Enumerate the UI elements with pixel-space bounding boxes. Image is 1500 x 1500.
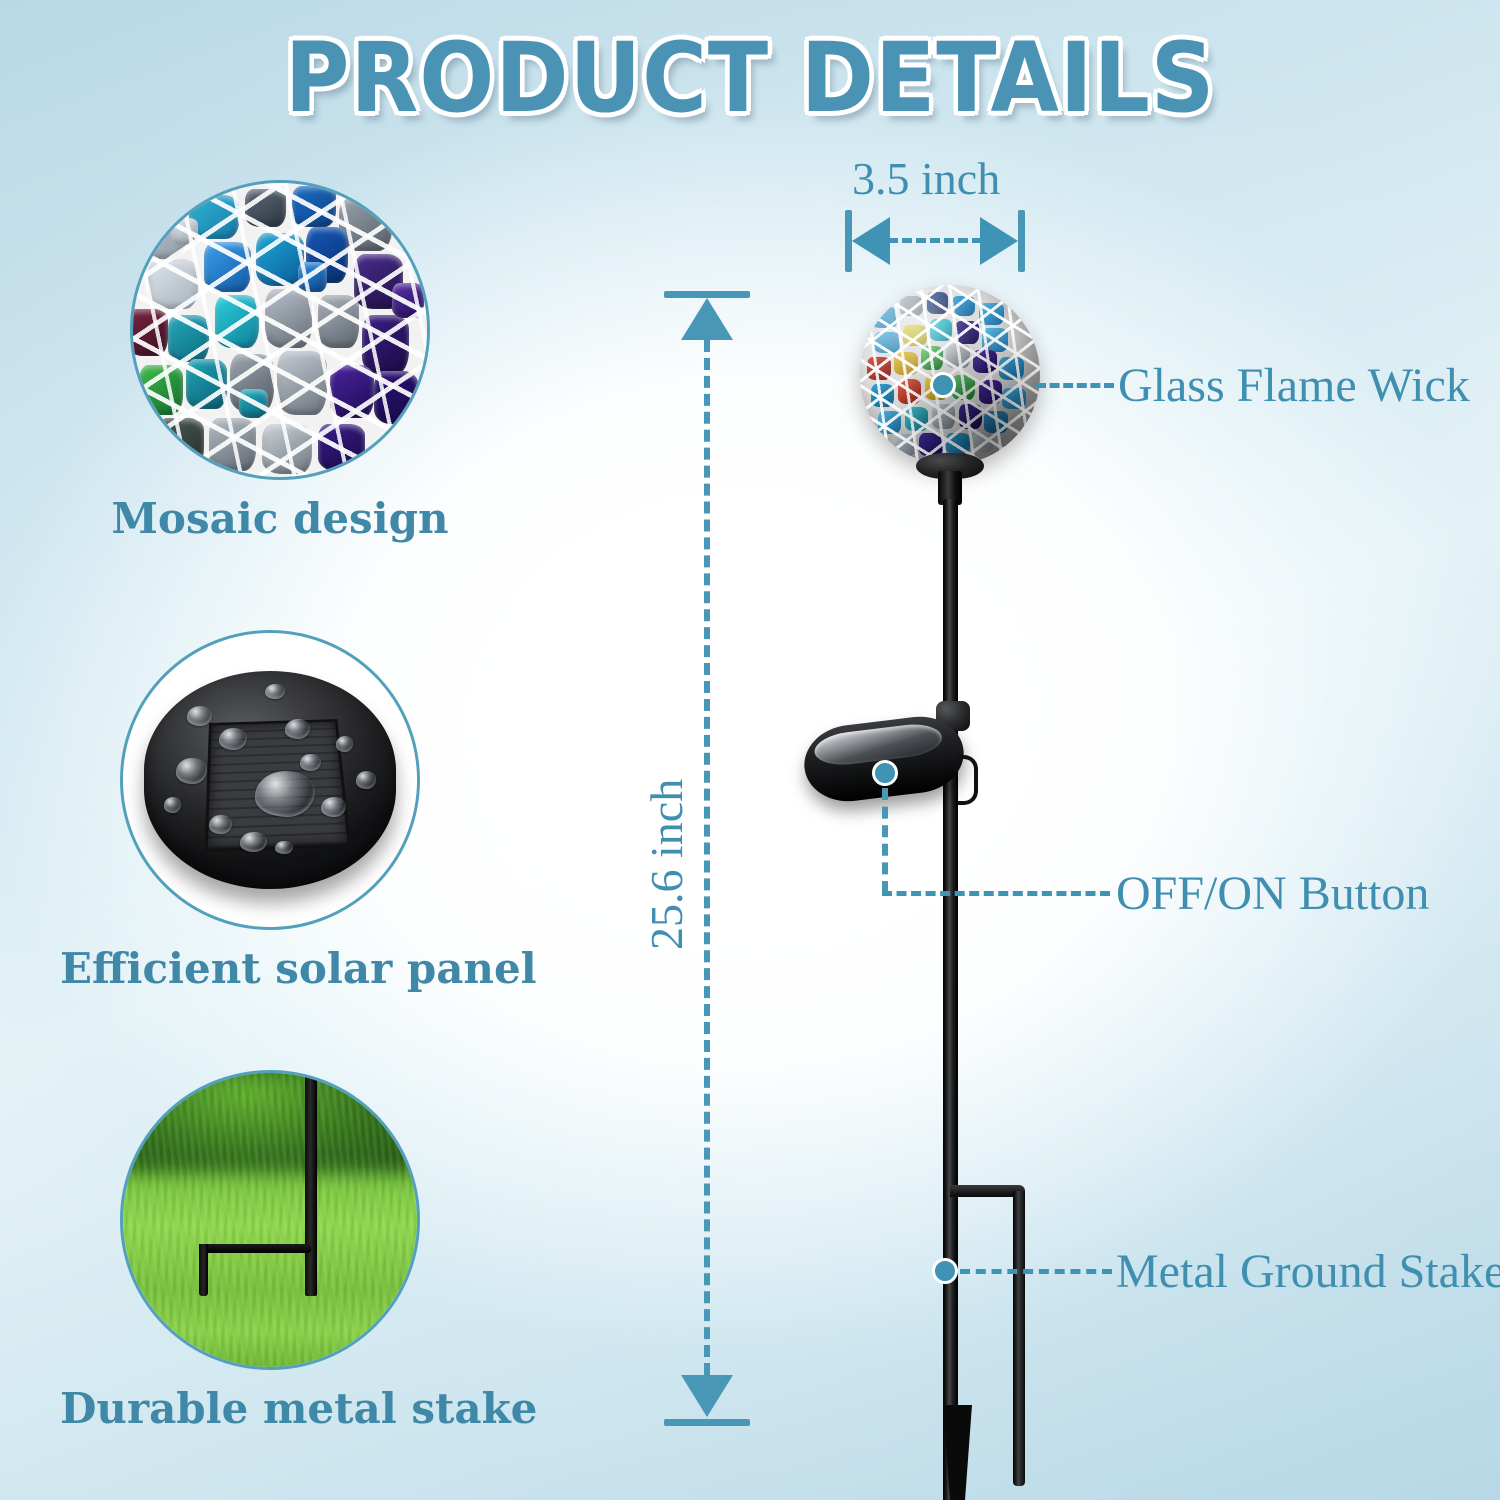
callout-line-off-on-button-horizontal	[882, 891, 1110, 896]
stake-pointed-tip	[943, 1405, 972, 1500]
width-dim-arrowhead-right	[980, 217, 1018, 265]
width-dimension-label: 3.5 inch	[852, 152, 1000, 205]
height-dimension-label: 25.6 inch	[640, 779, 693, 950]
feature-caption-durable-metal-stake: Durable metal stake	[60, 1384, 480, 1433]
mosaic-design-image	[130, 180, 430, 480]
durable-metal-stake-image	[120, 1070, 420, 1370]
width-dim-tick-left	[845, 210, 852, 272]
callout-label-metal-ground-stake: Metal Ground Stake	[1116, 1244, 1500, 1299]
stake-side-prong	[199, 1244, 208, 1297]
efficient-solar-panel-image	[120, 630, 420, 930]
feature-caption-mosaic-design: Mosaic design	[70, 494, 490, 543]
height-dim-tick-top	[664, 291, 750, 298]
grass-texture	[123, 1073, 417, 1367]
height-dim-arrowhead-bottom	[681, 1375, 733, 1417]
callout-line-glass-flame-wick	[1036, 383, 1114, 388]
width-dim-arrowhead-left	[852, 217, 890, 265]
callout-marker-metal-ground-stake[interactable]	[932, 1258, 958, 1284]
callout-line-off-on-button-vertical	[882, 788, 888, 893]
feature-card-mosaic-design: Mosaic design	[70, 180, 490, 543]
feature-caption-efficient-solar-panel: Efficient solar panel	[60, 944, 480, 993]
stake-main-rod	[305, 1073, 317, 1296]
stake-cross-arm	[199, 1244, 311, 1253]
feature-card-durable-metal-stake: Durable metal stake	[60, 1070, 480, 1433]
page-title: PRODUCT DETAILS	[60, 22, 1440, 134]
feature-card-efficient-solar-panel: Efficient solar panel	[60, 630, 480, 993]
solar-panel-clip	[958, 755, 978, 805]
height-dim-tick-bottom	[664, 1419, 750, 1426]
callout-label-glass-flame-wick: Glass Flame Wick	[1118, 358, 1470, 413]
callout-marker-off-on-button[interactable]	[872, 760, 898, 786]
callout-marker-glass-flame-wick[interactable]	[930, 372, 956, 398]
width-dim-dashed-line	[888, 238, 982, 243]
height-dim-arrowhead-top	[681, 298, 733, 340]
height-dim-dashed-line	[704, 340, 710, 1375]
solar-panel-waterdrops-closeup-photo	[123, 633, 417, 927]
black-pole	[943, 499, 958, 1500]
callout-line-metal-ground-stake	[960, 1269, 1112, 1274]
infographic-canvas: PRODUCT DETAILS	[0, 0, 1500, 1500]
solar-housing-shape	[144, 671, 397, 889]
mosaic-glass-closeup-photo	[133, 183, 427, 477]
product-illustration	[840, 285, 1100, 1425]
metal-stake-in-grass-photo	[123, 1073, 417, 1367]
width-dim-tick-right	[1018, 210, 1025, 272]
callout-label-off-on-button: OFF/ON Button	[1116, 866, 1429, 921]
stake-second-prong	[1013, 1191, 1025, 1486]
